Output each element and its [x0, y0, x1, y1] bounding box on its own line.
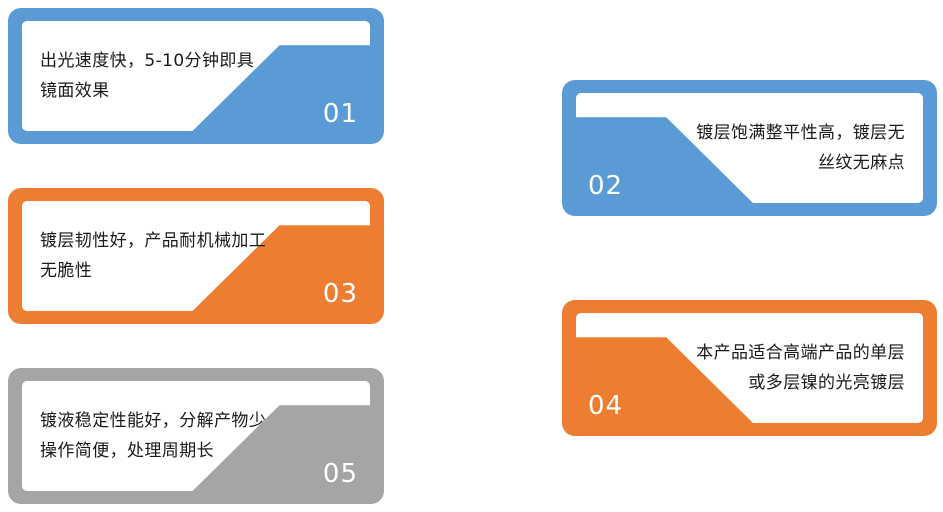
- feature-card-number: 05: [323, 461, 358, 487]
- feature-card-plate: [576, 93, 923, 203]
- feature-card-01: 出光速度快，5-10分钟即具 镜面效果01: [8, 8, 384, 144]
- feature-card-number: 04: [588, 393, 623, 419]
- feature-card-plate: [576, 313, 923, 423]
- feature-card-plate: [22, 381, 370, 491]
- feature-card-05: 镀液稳定性能好，分解产物少 操作简便，处理周期长05: [8, 368, 384, 504]
- feature-card-number: 01: [323, 101, 358, 127]
- infographic-canvas: 出光速度快，5-10分钟即具 镜面效果01镀层饱满整平性高，镀层无 丝纹无麻点0…: [0, 0, 943, 512]
- feature-card-04: 本产品适合高端产品的单层 或多层镍的光亮镀层04: [562, 300, 937, 436]
- feature-card-plate: [22, 201, 370, 311]
- feature-card-02: 镀层饱满整平性高，镀层无 丝纹无麻点02: [562, 80, 937, 216]
- feature-card-number: 03: [323, 281, 358, 307]
- feature-card-03: 镀层韧性好，产品耐机械加工 无脆性03: [8, 188, 384, 324]
- feature-card-number: 02: [588, 173, 623, 199]
- feature-card-plate: [22, 21, 370, 131]
